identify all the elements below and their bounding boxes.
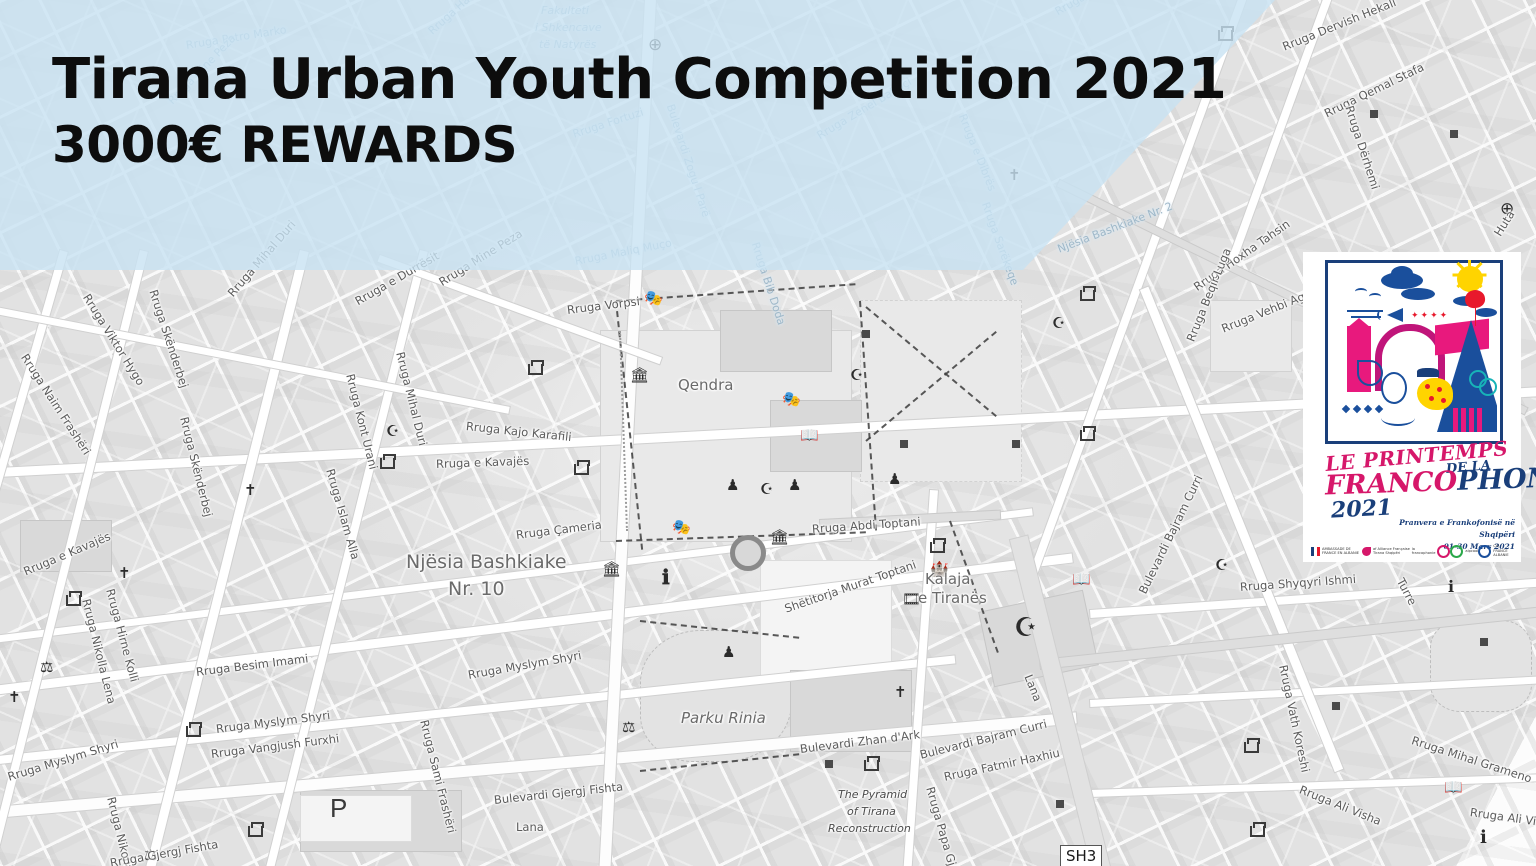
library-icon: 📖 <box>800 428 819 443</box>
mosque-icon: ☪ <box>850 368 863 383</box>
shop-icon <box>1244 742 1259 753</box>
place-label: Njësia Bashkiake <box>406 551 567 573</box>
place-label: Fakulteti <box>541 4 589 17</box>
bars-icon <box>1461 408 1466 432</box>
palette-icon <box>1417 378 1453 410</box>
logo-label: af Alliance Française Tirana Shqipëri <box>1373 547 1412 556</box>
place-label: i Shkencave <box>535 21 602 34</box>
shop-icon <box>1080 290 1095 301</box>
shop-icon <box>380 458 395 469</box>
map-marker <box>862 330 870 338</box>
place-label: e Tiranës <box>918 589 987 607</box>
map-marker <box>1480 638 1488 646</box>
headline-line-2: 3000€ REWARDS <box>52 114 1252 176</box>
church-icon: ✝ <box>894 685 907 700</box>
title-banner-text: Tirana Urban Youth Competition 2021 3000… <box>52 46 1252 176</box>
mosque-icon: ☪ <box>1052 316 1065 331</box>
library-icon: 📖 <box>1444 780 1463 795</box>
bars-icon <box>1453 408 1458 432</box>
monument-icon: ♟ <box>888 472 901 487</box>
information-icon: ℹ <box>1448 580 1454 596</box>
poster-illustration: ✦✦✦✦ <box>1325 260 1497 438</box>
monument-icon: ♟ <box>788 478 801 493</box>
poster-subtitle-line-1: Pranvera e Frankofonisë në Shqipëri <box>1375 517 1515 541</box>
hat-icon <box>1417 368 1439 377</box>
poster-title-phonie: PHONIE <box>1457 461 1536 496</box>
poster-title: LE PRINTEMPS DE LA FRANCOPHONIE 2021 <box>1313 444 1513 514</box>
balloon-icon <box>1464 289 1486 310</box>
library-icon: 📖 <box>1072 572 1091 587</box>
balloon-string <box>1475 308 1476 326</box>
museum-icon: 🏛 <box>770 530 789 545</box>
mask-icon <box>1381 372 1407 404</box>
logo-label: la francophonie <box>1412 547 1436 556</box>
theatre-icon: 🎭 <box>782 392 801 407</box>
place-label: Nr. 10 <box>448 578 505 600</box>
cloud-icon <box>1475 308 1497 317</box>
map-marker <box>1332 702 1340 710</box>
cloud-icon <box>1401 288 1435 300</box>
mosque-icon: ☪ <box>1014 614 1037 640</box>
place-label: Parku Rinia <box>681 709 766 727</box>
shop-icon <box>248 826 263 837</box>
bird-icon <box>1355 288 1367 295</box>
poster-sponsor-logos: AMBASSADE DE FRANCE EN ALBANIE af Allian… <box>1311 542 1513 560</box>
poster-title-o: O <box>1433 466 1458 498</box>
tower-roof <box>1347 318 1371 328</box>
courthouse-icon: ⚖ <box>622 720 635 735</box>
place-label: Reconstruction <box>828 822 911 835</box>
map-marker <box>1012 440 1020 448</box>
monument-icon: ♟ <box>722 645 735 660</box>
museum-icon: 🏛 <box>630 368 649 383</box>
megaphone-sound <box>1377 310 1385 320</box>
map-poster-slide: 🏛 🏛 🏛 🎭 🎭 🎭 📖 📖 📖 ☪ ☪ ☪ ☪ ☪ ☪ ✝ ✝ ✝ ✝ ✝ … <box>0 0 1536 866</box>
shop-icon <box>528 364 543 375</box>
shop-icon <box>930 542 945 553</box>
map-marker <box>900 440 908 448</box>
bars-icon <box>1477 408 1482 432</box>
theatre-icon: 🎭 <box>644 291 663 306</box>
map-marker <box>1450 130 1458 138</box>
map-marker <box>1056 800 1064 808</box>
theatre-icon: 🎭 <box>672 520 691 535</box>
megaphone-icon <box>1387 308 1403 322</box>
courthouse-icon: ⚖ <box>40 660 53 675</box>
route-shield-sh3: SH3 <box>1060 845 1102 866</box>
shop-icon <box>864 760 879 771</box>
logo-label: CCI FRANCE ALBANIE <box>1493 544 1513 557</box>
francophonie-poster[interactable]: ✦✦✦✦ <box>1303 252 1521 562</box>
mask-icon <box>1357 360 1383 386</box>
church-icon: ✝ <box>8 690 21 705</box>
shop-icon <box>1080 430 1095 441</box>
mosque-icon: ☪ <box>386 424 399 439</box>
place-label: of Tirana <box>847 805 896 818</box>
monument-icon: ♟ <box>726 478 739 493</box>
cloud-icon <box>1391 266 1413 281</box>
logo-aipcool: aipcool <box>1450 545 1478 558</box>
bird-icon <box>1369 293 1381 300</box>
information-icon: ℹ <box>1480 828 1487 846</box>
mosque-icon: ☪ <box>760 482 773 497</box>
parking-icon: P <box>330 795 347 821</box>
shop-icon <box>574 464 589 475</box>
church-icon: ✝ <box>118 566 131 581</box>
information-icon: ℹ <box>662 568 670 588</box>
shop-icon <box>1250 826 1265 837</box>
place-label: The Pyramid <box>838 788 907 801</box>
museum-icon: 🏛 <box>602 562 621 577</box>
figure-silhouette <box>1437 320 1497 432</box>
logo-label: AMBASSADE DE FRANCE EN ALBANIE <box>1322 547 1362 556</box>
sun-icon <box>1457 266 1483 292</box>
logo-alliance-francaise: af Alliance Française Tirana Shqipëri <box>1362 547 1412 556</box>
shop-icon <box>186 726 201 737</box>
logo-label: aipcool <box>1465 549 1478 553</box>
logo-ambassade-france: AMBASSADE DE FRANCE EN ALBANIE <box>1311 547 1362 556</box>
map-marker <box>1370 110 1378 118</box>
place-label: Kalaja <box>925 570 970 588</box>
church-icon: ✝ <box>244 483 257 498</box>
bars-icon <box>1469 408 1474 432</box>
roundabout-icon <box>730 535 766 571</box>
logo-la-francophonie: la francophonie <box>1412 545 1451 558</box>
shop-icon <box>1218 30 1233 41</box>
logo-cci-france-albanie: CCI FRANCE ALBANIE <box>1478 544 1513 557</box>
headline-line-1: Tirana Urban Youth Competition 2021 <box>52 46 1252 114</box>
smile-icon <box>1381 410 1415 426</box>
place-label: Lana <box>516 820 544 834</box>
mosque-icon: ☪ <box>1215 558 1228 573</box>
map-marker <box>825 760 833 768</box>
scissors-icon <box>1479 378 1497 396</box>
place-label: Qendra <box>678 376 733 394</box>
